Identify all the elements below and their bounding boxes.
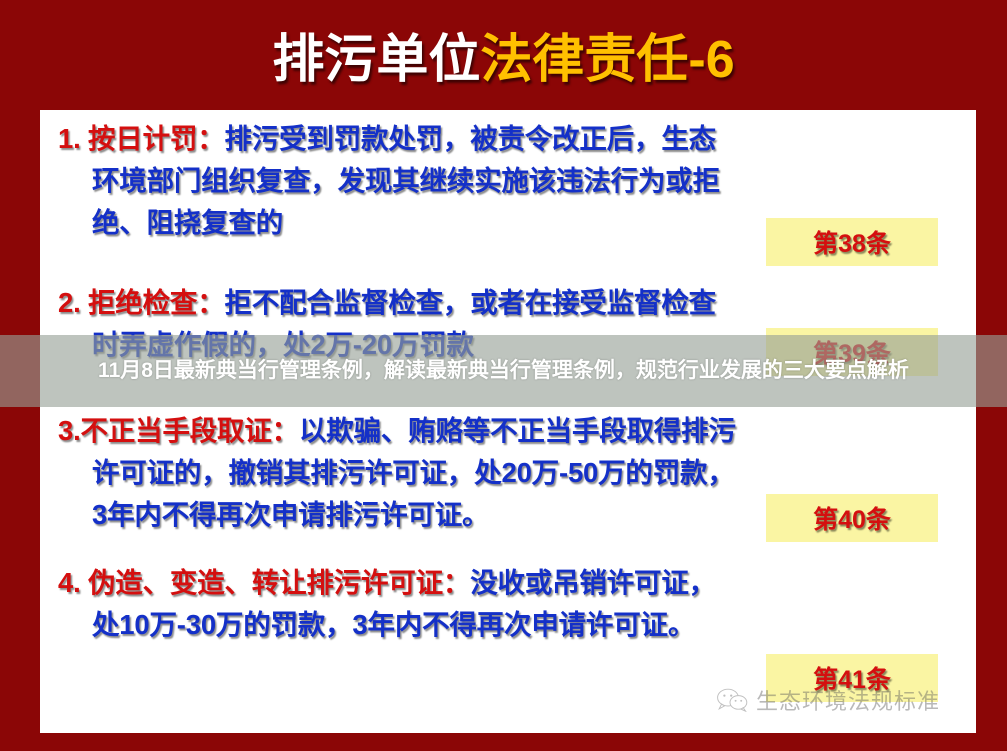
- list-item-highlight: 按日计罚: [88, 123, 197, 154]
- status-badge: 第40条: [766, 494, 938, 542]
- title-part-yellow: 法律责任-6: [480, 34, 734, 86]
- content-panel: 1. 按日计罚：排污受到罚款处罚，被责令改正后，生态 环境部门组织复查，发现其继…: [40, 110, 976, 733]
- list-item-line1: 没收或吊销许可证，: [470, 567, 716, 598]
- list-item-line1: 以欺骗、贿赂等不正当手段取得排污: [299, 415, 736, 446]
- list-item: 4. 伪造、变造、转让排污许可证：没收或吊销许可证， 处10万-30万的罚款，3…: [58, 562, 958, 646]
- title-part-white: 排污单位: [272, 34, 480, 86]
- list-item-number: 3.: [58, 415, 81, 446]
- overlay-caption: 11月8日最新典当行管理条例，解读最新典当行管理条例，规范行业发展的三大要点解析: [14, 356, 993, 386]
- slide-background: 排污单位法律责任-6 1. 按日计罚：排污受到罚款处罚，被责令改正后，生态 环境…: [0, 0, 1007, 751]
- status-badge: 第41条: [766, 654, 938, 702]
- list-item-line2: 环境部门组织复查，发现其继续实施该违法行为或拒: [58, 160, 958, 202]
- list-item-number: 2.: [58, 287, 81, 318]
- list-item-highlight: 不正当手段取证: [81, 415, 272, 446]
- list-item-line2: 处10万-30万的罚款，3年内不得再次申请许可证。: [58, 604, 958, 646]
- list-item-number: 1.: [58, 123, 81, 154]
- list-item-highlight: 伪造、变造、转让排污许可证: [88, 567, 443, 598]
- list-item-colon: ：: [272, 415, 299, 446]
- page-title: 排污单位法律责任-6: [0, 24, 1007, 96]
- list-item-colon: ：: [197, 287, 224, 318]
- list-item-line2: 许可证的，撤销其排污许可证，处20万-50万的罚款，: [58, 452, 958, 494]
- list-item-colon: ：: [197, 123, 224, 154]
- list-item-line1: 拒不配合监督检查，或者在接受监督检查: [225, 287, 716, 318]
- list-item-number: 4.: [58, 567, 81, 598]
- list-item-highlight: 拒绝检查: [88, 287, 197, 318]
- status-badge: 第38条: [766, 218, 938, 266]
- list-item-colon: ：: [443, 567, 470, 598]
- overlay-banner: 11月8日最新典当行管理条例，解读最新典当行管理条例，规范行业发展的三大要点解析: [0, 335, 1007, 407]
- list-item-line1: 排污受到罚款处罚，被责令改正后，生态: [225, 123, 716, 154]
